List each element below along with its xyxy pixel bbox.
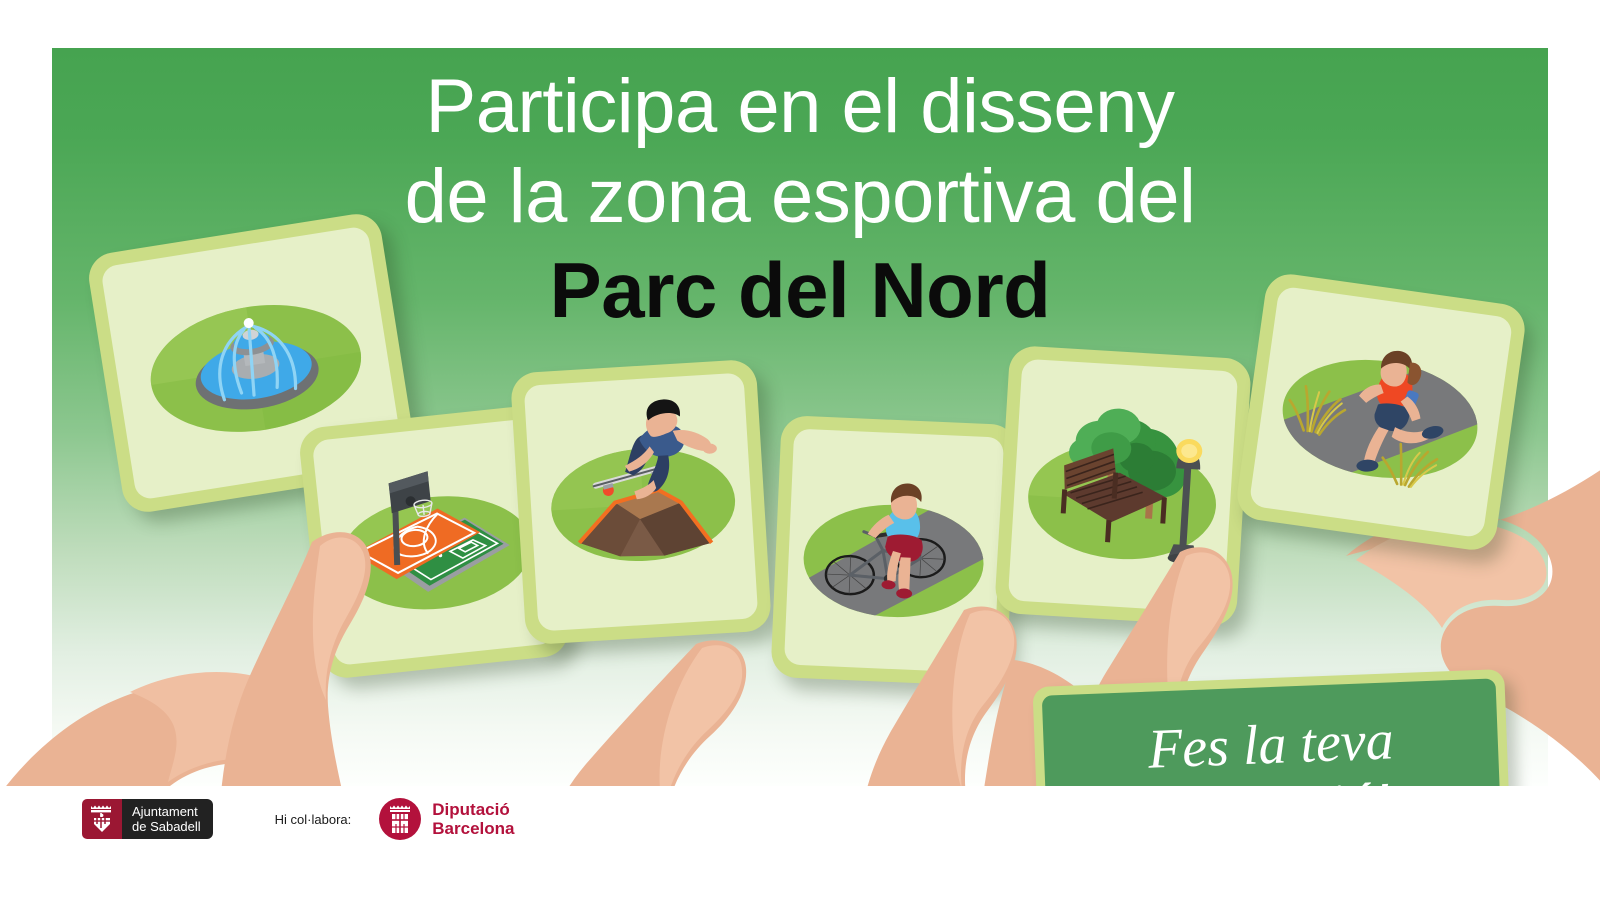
diputacio-line-1: Diputació	[432, 800, 514, 819]
cta-line-1: Fes la teva	[1147, 709, 1395, 780]
card-skatepark-art	[524, 373, 759, 632]
card-running-track-art	[1249, 286, 1514, 539]
logo-row: Ajuntament de Sabadell Hi col·labora:	[82, 798, 514, 840]
footer-bar: Ajuntament de Sabadell Hi col·labora:	[0, 786, 1600, 900]
diputacio-barcelona-logo[interactable]: Diputació Barcelona	[379, 798, 514, 840]
sabadell-line-2: de Sabadell	[132, 819, 201, 834]
runner-icon	[1249, 286, 1514, 539]
sabadell-wordmark: Ajuntament de Sabadell	[122, 799, 213, 839]
collaborator-label: Hi col·labora:	[275, 812, 352, 827]
card-skatepark[interactable]	[510, 359, 772, 646]
sabadell-line-1: Ajuntament	[132, 804, 201, 819]
sabadell-crest-icon	[82, 799, 122, 839]
diputacio-wordmark: Diputació Barcelona	[432, 800, 514, 838]
card-running-track[interactable]	[1234, 271, 1528, 553]
poster-canvas: Participa en el disseny de la zona espor…	[0, 0, 1600, 900]
ajuntament-sabadell-logo[interactable]: Ajuntament de Sabadell	[82, 799, 213, 839]
skateboarder-icon	[524, 373, 759, 632]
diputacio-line-2: Barcelona	[432, 819, 514, 838]
diputacio-crest-icon	[379, 798, 421, 840]
